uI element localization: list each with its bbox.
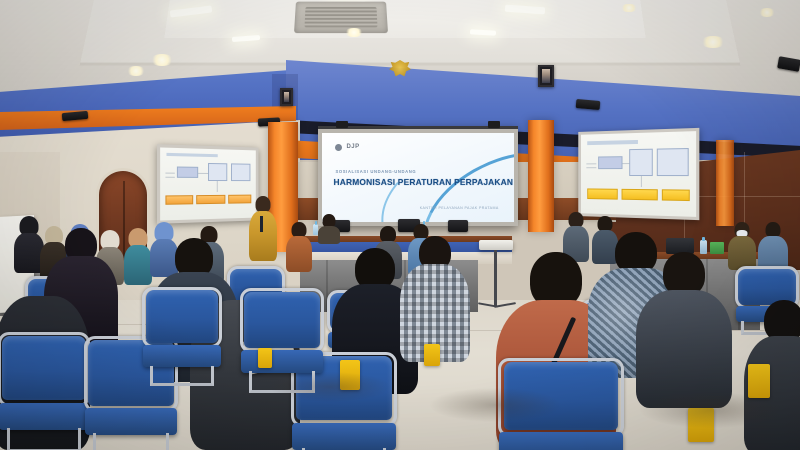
attendee-torso [728, 236, 756, 270]
left-slide-box-primary [177, 167, 199, 179]
monitor-3 [448, 220, 468, 232]
chair-seat [241, 350, 323, 373]
left-slide-text-2 [165, 177, 174, 178]
framed-portrait-left [280, 88, 293, 106]
chair-seat [499, 432, 622, 450]
ceiling-recess-inner [164, 0, 645, 38]
left-slide [160, 147, 256, 220]
right-slide-highlight-3 [662, 189, 690, 201]
right-slide [581, 131, 696, 217]
right-slide-highlight-1 [587, 188, 618, 200]
right-slide-connector-1 [622, 163, 629, 164]
chair-legs [7, 428, 81, 450]
left-slide-box-a [208, 163, 227, 181]
chair-fg-6[interactable] [244, 292, 320, 382]
floor-shadow-2 [430, 388, 560, 422]
attendee-masked-right [728, 222, 756, 270]
left-projection-screen[interactable] [157, 144, 259, 224]
right-slide-text-1 [586, 163, 596, 164]
left-slide-highlight-2 [196, 195, 225, 204]
chair-frame [0, 332, 90, 407]
slide-logos: DJP [335, 144, 359, 151]
slide-eyebrow-text: SOSIALISASI UNDANG-UNDANG [335, 169, 416, 174]
slide-logo-icon [335, 144, 342, 151]
attendee-hijab-5 [124, 228, 152, 282]
orange-pilaster-right [528, 120, 554, 232]
floor-shadow-3 [640, 392, 780, 428]
right-slide-heading-bar [587, 139, 638, 144]
screen-mount-right [488, 121, 500, 128]
projector [479, 240, 513, 250]
yellow-bag-5 [258, 348, 272, 368]
chair-frame [142, 287, 221, 349]
left-slide-connector-2 [217, 181, 218, 192]
screen-mount-left [336, 121, 348, 128]
attendee-fg-checked-shirt [400, 236, 470, 360]
right-slide-box-primary [598, 156, 622, 169]
chair-fg-1[interactable] [2, 336, 86, 440]
chair-legs [150, 366, 213, 387]
left-slide-highlight-1 [165, 195, 193, 205]
chair-fg-5[interactable] [146, 290, 218, 376]
presenter-lanyard [260, 216, 263, 232]
chair-frame [240, 288, 324, 353]
main-slide: DJP SOSIALISASI UNDANG-UNDANG HARMONISAS… [322, 133, 514, 222]
slide-footer-text: KANTOR PELAYANAN PAJAK PRATAMA [420, 206, 499, 210]
attendee-torso [318, 226, 340, 244]
right-slide-connector-2 [641, 176, 642, 188]
right-slide-text-2 [586, 168, 596, 169]
attendee-torso [286, 236, 312, 272]
floor-shadow-1 [270, 372, 390, 402]
attendee-torso [636, 290, 732, 408]
left-slide-text-1 [165, 172, 174, 173]
downlight-2 [126, 66, 146, 76]
downlight-5 [758, 8, 776, 17]
attendee-fg-gray-right [636, 252, 732, 402]
right-slide-box-b [657, 148, 689, 175]
downlight-1 [150, 54, 174, 66]
slide-logo-text: DJP [346, 144, 359, 150]
slide-title-text: HARMONISASI PERATURAN PERPAJAKAN [334, 177, 514, 187]
downlight-3 [344, 28, 364, 37]
chair-seat [0, 403, 89, 430]
chair-seat [292, 423, 396, 450]
downlight-4 [700, 36, 726, 48]
right-projection-screen[interactable] [578, 128, 699, 220]
chair-seat [85, 408, 178, 436]
presenter-standing [248, 196, 278, 268]
yellow-bag-4 [424, 344, 440, 366]
seminar-room-photo: DJP SOSIALISASI UNDANG-UNDANG HARMONISAS… [0, 0, 800, 450]
attendee-head-table-1 [318, 214, 340, 242]
attendee-torso [124, 245, 152, 285]
orange-pilaster-far-right [716, 140, 734, 226]
left-slide-heading-bar [166, 153, 217, 158]
chair-legs [93, 433, 169, 450]
yellow-bag-2 [748, 364, 770, 398]
left-slide-box-b [231, 163, 251, 181]
left-slide-connector-1 [198, 173, 208, 174]
downlight-6 [620, 4, 638, 12]
framed-portrait-right [538, 65, 554, 87]
presenter-torso [249, 211, 277, 261]
attendee-back-1 [286, 222, 312, 272]
chair-seat [143, 345, 221, 367]
right-slide-highlight-2 [621, 189, 658, 201]
ceiling-ac-vent [294, 2, 388, 34]
main-projection-screen[interactable]: DJP SOSIALISASI UNDANG-UNDANG HARMONISAS… [318, 126, 518, 226]
right-slide-box-a [629, 149, 652, 176]
